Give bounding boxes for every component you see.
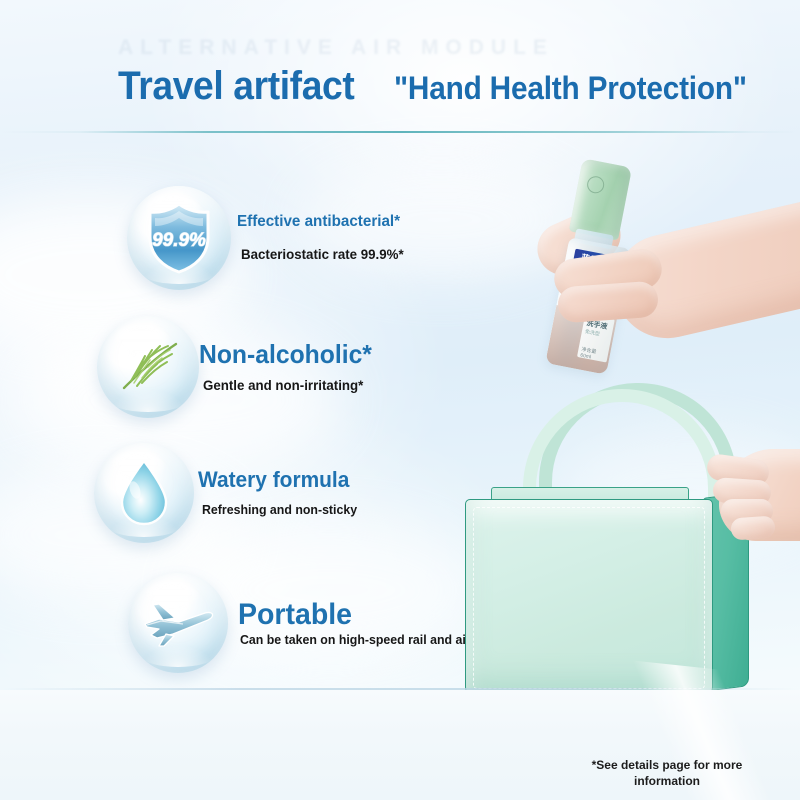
- hand-reaching-into-bag: [691, 431, 800, 591]
- finger: [557, 281, 659, 324]
- footnote-line-2: information: [634, 774, 700, 788]
- feature-bubble: [128, 573, 228, 673]
- feature-heading: Watery formula: [198, 468, 357, 491]
- page-title: Travel artifact "Hand Health Protection": [118, 64, 774, 109]
- shield-99-icon: 99.9%: [143, 201, 215, 275]
- rosemary-sprig-icon: [110, 334, 186, 400]
- ghost-headline: ALTERNATIVE AIR MODULE: [118, 36, 718, 62]
- feature-subtext: Refreshing and non-sticky: [202, 503, 357, 517]
- feature-heading: Effective antibacterial*: [237, 214, 403, 231]
- bag-front-panel: [465, 499, 713, 697]
- feature-subtext: Bacteriostatic rate 99.9%*: [241, 247, 404, 262]
- spray-nozzle-icon: [586, 175, 606, 195]
- mint-green-handbag: [455, 375, 800, 720]
- feature-heading: Non-alcoholic*: [199, 341, 372, 368]
- footnote-line-1: *See details page for more: [592, 758, 743, 772]
- airplane-icon: [139, 593, 217, 653]
- feature-text: Effective antibacterial* Bacteriostatic …: [237, 214, 412, 262]
- product-hand-holding-bottle: 蓝月亮 免洗抑菌 洗手液 免洗型 净含量 60ml: [498, 150, 800, 410]
- feature-item-non-alcoholic: Non-alcoholic* Gentle and non-irritating…: [97, 316, 381, 418]
- title-quote: "Hand Health Protection": [394, 70, 747, 107]
- product-feature-poster: ALTERNATIVE AIR MODULE Travel artifact "…: [0, 0, 800, 800]
- title-main: Travel artifact: [118, 64, 354, 109]
- feature-subtext: Gentle and non-irritating*: [203, 378, 372, 393]
- shield-badge-value: 99.9%: [152, 230, 206, 251]
- bottle-label-small-1: 免洗型: [584, 328, 600, 338]
- feature-bubble: [94, 443, 194, 543]
- header-divider: [0, 131, 800, 133]
- footnote: *See details page for more information: [582, 757, 752, 789]
- bag-stitching: [473, 507, 705, 689]
- water-droplet-icon: [116, 458, 172, 528]
- feature-text: Watery formula Refreshing and non-sticky: [198, 468, 365, 517]
- feature-item-antibacterial: 99.9% Effective antibacterial* Bacterios…: [127, 186, 412, 290]
- finger: [730, 515, 775, 540]
- feature-text: Non-alcoholic* Gentle and non-irritating…: [199, 341, 381, 394]
- feature-item-watery-formula: Watery formula Refreshing and non-sticky: [94, 443, 365, 543]
- feature-bubble: [97, 316, 199, 418]
- table-edge: [0, 688, 800, 690]
- feature-bubble: 99.9%: [127, 186, 231, 290]
